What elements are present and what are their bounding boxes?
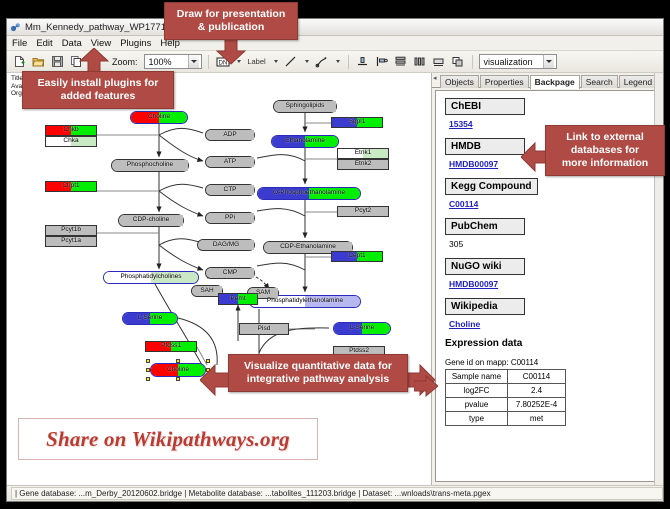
node-label: Choline	[167, 367, 189, 374]
tab-objects[interactable]: Objects	[440, 75, 479, 88]
expression-key: Sample name	[446, 370, 508, 384]
menu-edit[interactable]: Edit	[36, 38, 52, 49]
callout-link-line2: databases for	[554, 144, 656, 157]
backpage-value-pubchem: 305	[449, 239, 645, 249]
label-dropdown-icon[interactable]	[271, 54, 280, 70]
menu-plugins[interactable]: Plugins	[120, 38, 151, 49]
expression-value: C00114	[508, 370, 566, 384]
callout-visualize-line2: integrative pathway analysis	[237, 373, 399, 386]
label-button-text: Label	[245, 57, 267, 66]
node-label: PPi	[225, 215, 235, 222]
gene-node-pcyt2[interactable]: Pcyt2	[337, 206, 389, 217]
status-bar: | Gene database: ...m_Derby_20120602.bri…	[7, 485, 663, 501]
gene-node-sgpl1[interactable]: Sgpl1	[331, 117, 383, 128]
menu-data[interactable]: Data	[62, 38, 82, 49]
metabolite-node-o-phosphoethanolamine[interactable]: O-Phosphoethanolamine	[257, 187, 361, 200]
metabolite-node-phosphocholine[interactable]: Phosphocholine	[111, 159, 189, 172]
node-label: CTP	[224, 187, 237, 194]
open-folder-icon[interactable]	[30, 54, 46, 70]
node-label: Phosphatidylcholines	[120, 274, 181, 281]
gene-node-chpt1[interactable]: Chpt1	[45, 181, 97, 192]
toolbar-separator-3	[472, 55, 473, 69]
gene-node-ptdss1[interactable]: Ptdss1	[145, 341, 197, 352]
interaction-dropdown-icon[interactable]	[333, 54, 342, 70]
metabolite-node-ppi[interactable]: PPi	[205, 212, 255, 224]
expression-value: 2.4	[508, 384, 566, 398]
selection-handle[interactable]	[176, 359, 180, 363]
menu-file[interactable]: File	[12, 38, 27, 49]
table-row: log2FC2.4	[446, 384, 566, 398]
expression-key: log2FC	[446, 384, 508, 398]
node-label: ADP	[223, 132, 236, 139]
gene-node-pcyt1b[interactable]: Pcyt1b	[45, 225, 97, 236]
chevron-down-icon[interactable]	[188, 55, 199, 68]
stack-vertical-icon[interactable]	[393, 54, 409, 70]
metabolite-node-ethanolamine-top[interactable]: Ethanolamine	[271, 135, 339, 148]
node-label: L-Serine	[350, 325, 375, 332]
callout-visualize: Visualize quantitative data for integrat…	[228, 354, 408, 392]
backpage-header-wikipedia: Wikipedia	[445, 298, 525, 315]
tab-properties[interactable]: Properties	[480, 75, 529, 88]
callout-draw-line2: & publication	[173, 21, 289, 34]
bring-front-icon[interactable]	[450, 54, 466, 70]
label-icon[interactable]: Label	[246, 54, 268, 70]
metabolite-node-phosphatidylcholines[interactable]: Phosphatidylcholines	[103, 271, 199, 284]
expression-value: 7.80252E-4	[508, 398, 566, 412]
zoom-value: 100%	[149, 57, 172, 67]
metabolite-node-cmp[interactable]: CMP	[205, 267, 255, 279]
tab-legend[interactable]: Legend	[619, 75, 657, 88]
selection-handle[interactable]	[146, 368, 150, 372]
distribute-horizontal-icon[interactable]	[412, 54, 428, 70]
expression-data-title: Expression data	[445, 338, 645, 349]
status-text: | Gene database: ...m_Derby_20120602.bri…	[11, 487, 663, 500]
node-label: Sphingolipids	[286, 103, 325, 110]
metabolite-node-choline-top[interactable]: Choline	[130, 111, 188, 124]
expression-value: met	[508, 412, 566, 426]
zoom-label: Zoom:	[112, 57, 138, 67]
metabolite-node-choline-selected[interactable]: Choline	[150, 363, 206, 377]
title-bar: Mm_Kennedy_pathway_WP1771_45176.gpml	[7, 19, 663, 36]
backpage-header-pubchem: PubChem	[445, 218, 525, 235]
node-label: SAH	[200, 288, 213, 295]
gene-node-etnk1[interactable]: Etnk1	[337, 148, 389, 159]
gene-id-line: Gene id on mapp: C00114	[445, 358, 645, 367]
table-row: pvalue7.80252E-4	[446, 398, 566, 412]
metabolite-node-ctp[interactable]: CTP	[205, 184, 255, 196]
node-label: Choline	[148, 114, 170, 121]
node-label: Chpt1	[62, 183, 79, 190]
side-pane-tabs: ◂ Objects Properties Backpage Search Leg…	[432, 73, 663, 88]
callout-link: Link to external databases for more info…	[545, 125, 665, 176]
backpage-header-kegg-compound: Kegg Compound	[445, 178, 538, 195]
interaction-icon[interactable]	[314, 54, 330, 70]
share-banner-text: Share on Wikipathways.org	[46, 427, 290, 452]
node-label: Ethanolamine	[285, 138, 325, 145]
node-label: CDP-choline	[133, 217, 170, 224]
node-label: L-Serine	[138, 315, 163, 322]
backpage-header-chebi: ChEBI	[445, 98, 525, 115]
gene-node-chka[interactable]: Chka	[45, 136, 97, 147]
selection-handle[interactable]	[146, 377, 150, 381]
table-row: typemet	[446, 412, 566, 426]
align-top-icon[interactable]	[355, 54, 371, 70]
backpage-link-nugo-wiki[interactable]: HMDB00097	[449, 279, 645, 289]
selection-handle[interactable]	[176, 377, 180, 381]
node-label: Chkb	[63, 127, 78, 134]
node-label: Chka	[63, 138, 78, 145]
node-label: CDP-Ethanolamine	[280, 244, 336, 251]
selection-handle[interactable]	[146, 359, 150, 363]
menu-view[interactable]: View	[91, 38, 111, 49]
expression-table: Sample nameC00114log2FC2.4pvalue7.80252E…	[445, 369, 566, 426]
gene-node-pcyt1a[interactable]: Pcyt1a	[45, 236, 97, 247]
node-label: Pcyt2	[355, 208, 371, 215]
node-label: Etnk2	[355, 161, 372, 168]
gene-node-etnk2[interactable]: Etnk2	[337, 159, 389, 170]
node-label: Phosphocholine	[127, 162, 173, 169]
gene-node-chkb[interactable]: Chkb	[45, 125, 97, 136]
visualization-chevron-down-icon[interactable]	[543, 55, 554, 68]
node-label: O-Phosphoethanolamine	[273, 190, 345, 197]
callout-plugins-line2: added features	[31, 90, 165, 103]
selection-handle[interactable]	[206, 359, 210, 363]
visualization-combo[interactable]: visualization	[479, 54, 557, 69]
backpage-link-wikipedia[interactable]: Choline	[449, 319, 645, 329]
callout-visualize-arrow-left-icon	[200, 364, 230, 399]
metabolite-node-cdp-choline[interactable]: CDP-choline	[118, 214, 184, 227]
node-label: Pcyt1b	[61, 227, 81, 234]
metabolite-node-l-serine-right[interactable]: L-Serine	[333, 322, 391, 335]
pathvisio-icon	[10, 22, 21, 33]
node-label: Sgpl1	[349, 119, 366, 126]
new-document-icon[interactable]	[11, 54, 27, 70]
node-label: DAG/MG	[213, 242, 239, 249]
common-width-icon[interactable]	[431, 54, 447, 70]
node-label: Phosphatidylethanolamine	[267, 298, 343, 305]
backpage-header-hmdb: HMDB	[445, 138, 525, 155]
line-icon[interactable]	[283, 54, 299, 70]
line-dropdown-icon[interactable]	[302, 54, 311, 70]
metabolite-node-l-serine-left[interactable]: L-Serine	[122, 312, 178, 325]
backpage-link-kegg-compound[interactable]: C00114	[449, 199, 645, 209]
node-label: ATP	[224, 159, 236, 166]
node-label: Cept1	[348, 253, 365, 260]
toolbar-separator-2	[348, 55, 349, 69]
callout-link-line1: Link to external	[554, 131, 656, 144]
metabolite-node-atp[interactable]: ATP	[205, 156, 255, 168]
node-label: Etnk1	[355, 150, 372, 157]
table-row: Sample nameC00114	[446, 370, 566, 384]
callout-visualize-line1: Visualize quantitative data for	[237, 360, 399, 373]
metabolite-node-sphingolipids[interactable]: Sphingolipids	[273, 100, 337, 113]
expression-key: pvalue	[446, 398, 508, 412]
share-banner: Share on Wikipathways.org	[18, 418, 318, 460]
callout-plugins: Easily install plugins for added feature…	[22, 71, 174, 109]
floppy-disk-icon[interactable]	[49, 54, 65, 70]
callout-draw-line1: Draw for presentation	[173, 8, 289, 21]
align-left-icon[interactable]	[374, 54, 390, 70]
expression-key: type	[446, 412, 508, 426]
tab-backpage[interactable]: Backpage	[530, 75, 580, 89]
node-label: Pemt	[230, 296, 245, 303]
backpage-header-nugo-wiki: NuGO wiki	[445, 258, 525, 275]
metabolite-node-dag-mg[interactable]: DAG/MG	[197, 239, 255, 251]
toolbar-separator	[208, 55, 209, 69]
node-label: Ptdss1	[161, 343, 181, 350]
metabolite-node-adp[interactable]: ADP	[205, 129, 255, 141]
tab-search[interactable]: Search	[581, 75, 618, 88]
callout-plugins-line1: Easily install plugins for	[31, 77, 165, 90]
callout-link-line3: more information	[554, 157, 656, 170]
callout-draw: Draw for presentation & publication	[164, 2, 298, 40]
gene-node-pemt[interactable]: Pemt	[218, 293, 258, 305]
node-label: Pisd	[258, 326, 271, 333]
gene-node-pisd[interactable]: Pisd	[239, 323, 289, 335]
visualization-value: visualization	[484, 57, 533, 67]
node-label: CMP	[223, 270, 237, 277]
callout-expression-arrow-right-icon	[414, 375, 438, 400]
node-label: SAM	[256, 290, 270, 297]
zoom-combo[interactable]: 100%	[144, 54, 202, 69]
gene-node-cept1[interactable]: Cept1	[331, 251, 383, 262]
tab-scroll-icon[interactable]: ◂	[433, 74, 437, 82]
node-label: Pcyt1a	[61, 238, 81, 245]
